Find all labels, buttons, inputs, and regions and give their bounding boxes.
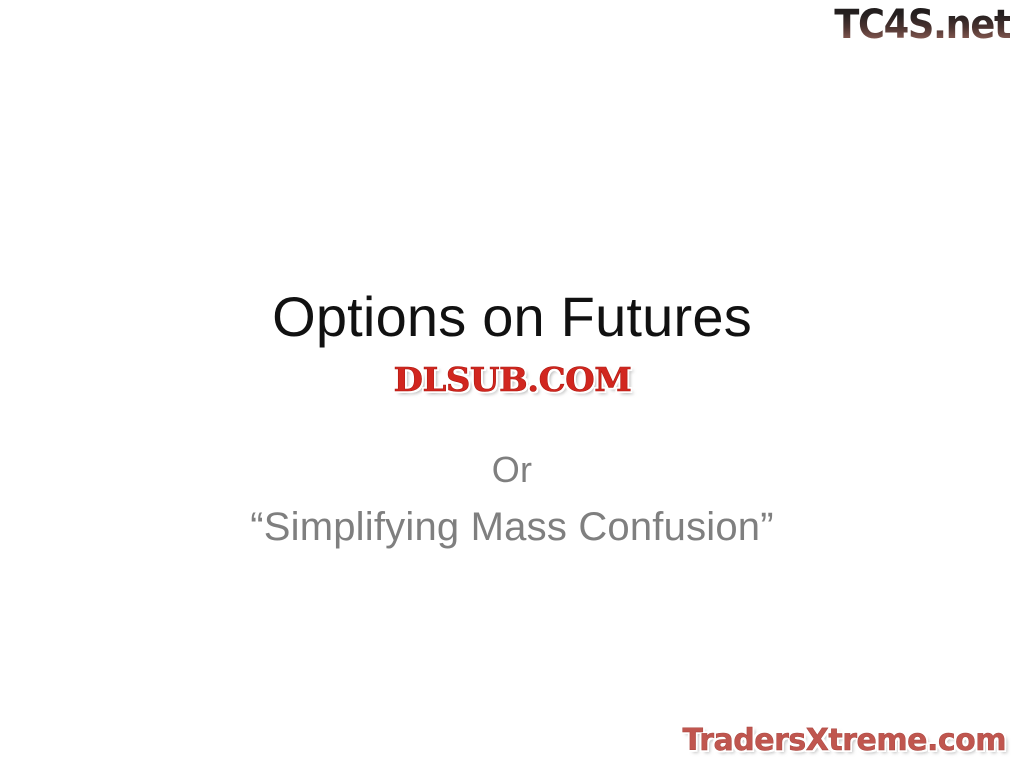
tradersxtreme-brand-logo: TradersXtreme.com: [683, 722, 1006, 760]
slide-title: Options on Futures: [0, 286, 1024, 348]
presentation-slide: TC4S.net Options on Futures DLSUB.COM Or…: [0, 0, 1024, 768]
dlsub-watermark: DLSUB.COM: [393, 360, 631, 400]
dlsub-watermark-container: DLSUB.COM: [0, 360, 1024, 400]
subtitle-line-2: “Simplifying Mass Confusion”: [0, 498, 1024, 556]
tc4s-brand-logo: TC4S.net: [834, 2, 1010, 48]
subtitle-line-1: Or: [0, 442, 1024, 498]
tradersxtreme-logo-container: TradersXtreme.com: [683, 722, 1006, 760]
title-block: Options on Futures: [0, 286, 1024, 348]
subtitle-block: Or “Simplifying Mass Confusion”: [0, 442, 1024, 556]
